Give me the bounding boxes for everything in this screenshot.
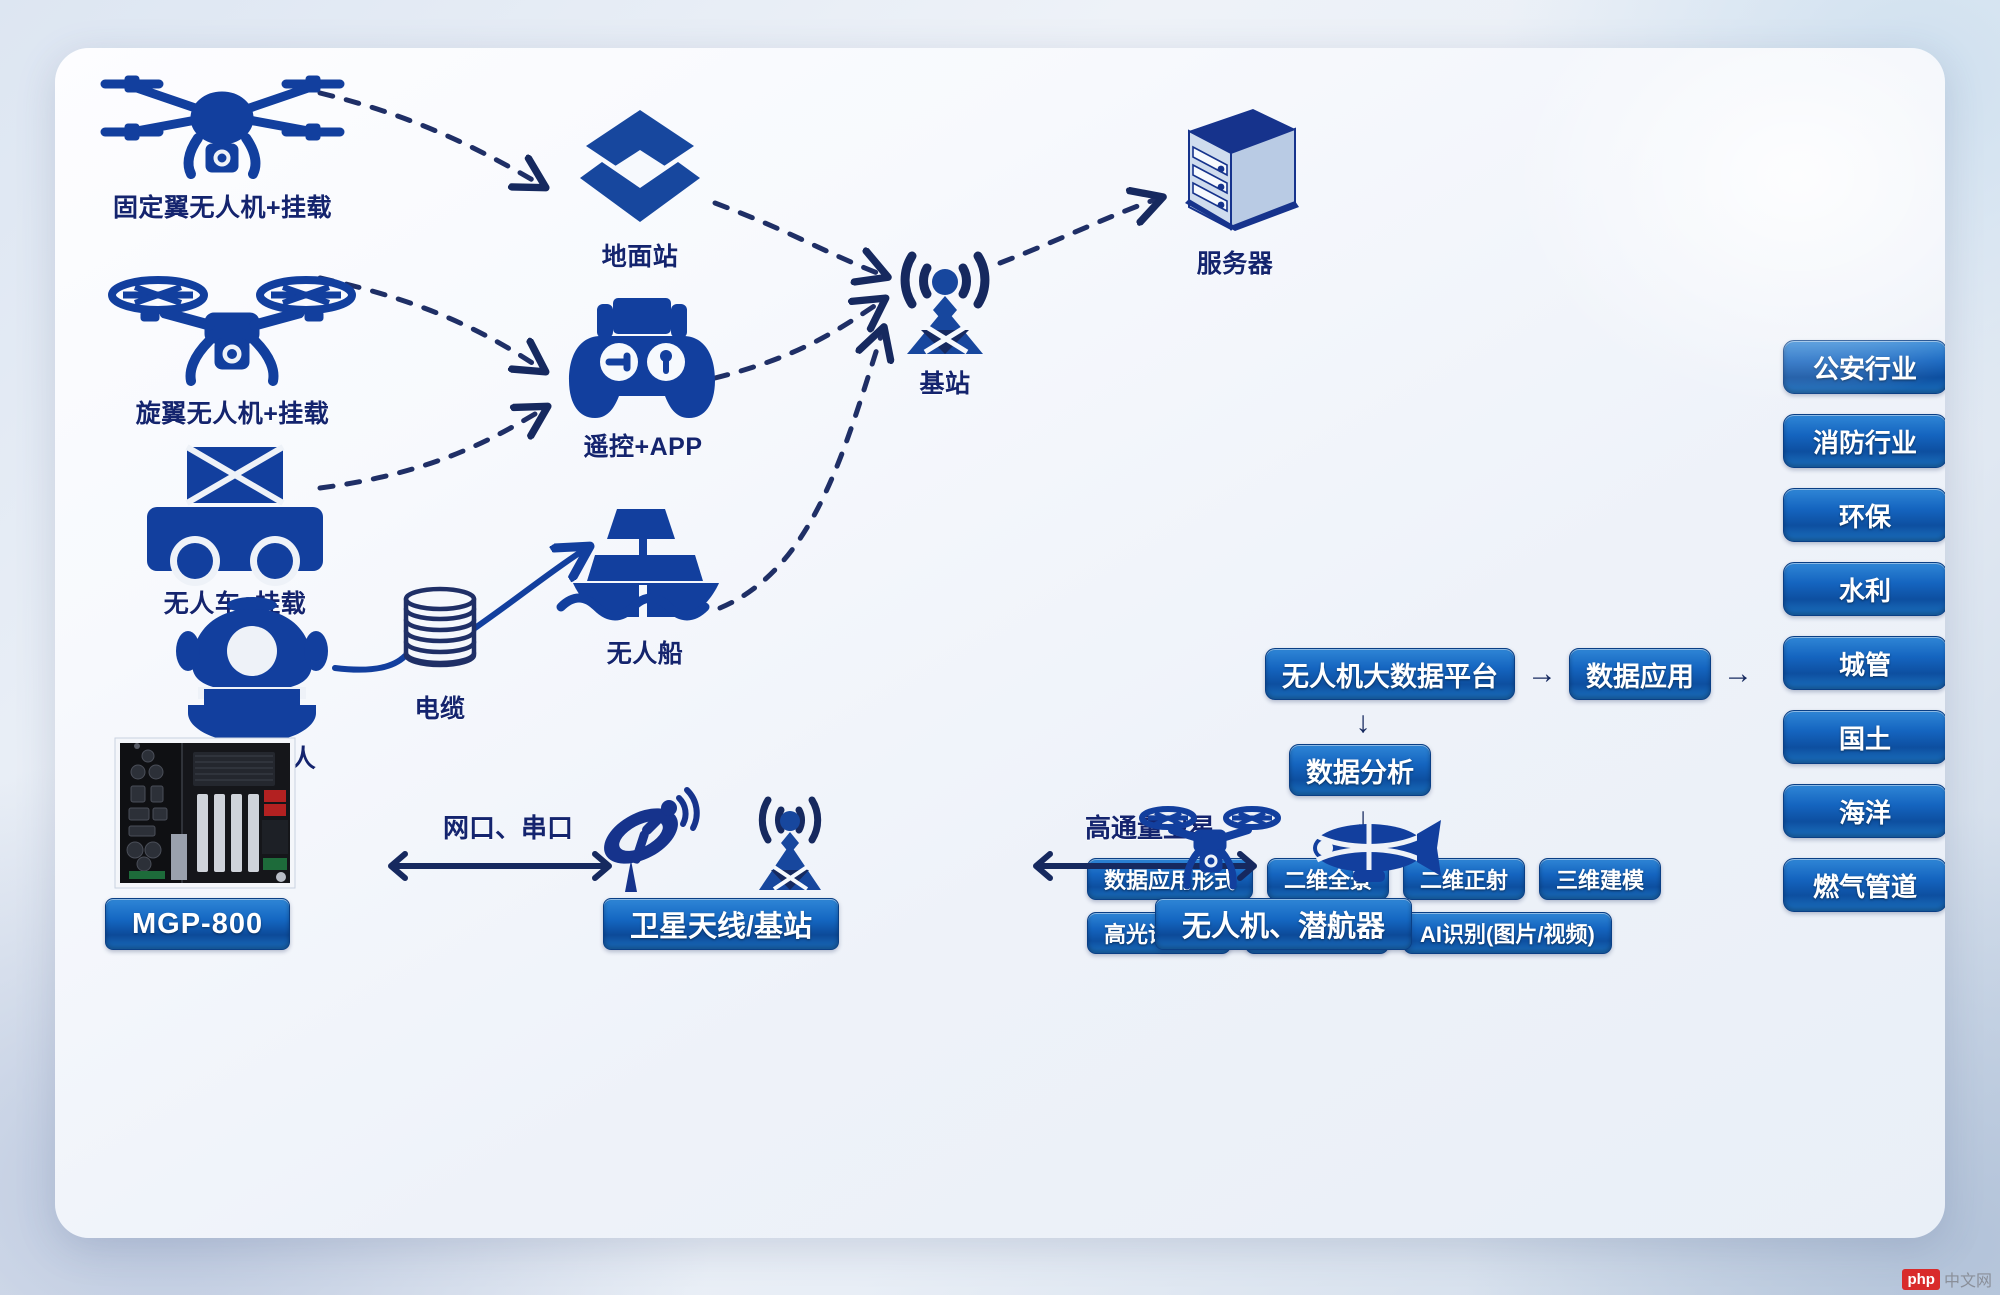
arrow-down-icon-1: ↓ [1265, 708, 1461, 738]
industry-tag[interactable]: 消防行业 [1783, 414, 1945, 468]
data-analysis-pill[interactable]: 数据分析 [1289, 744, 1431, 796]
unmanned-ground-vehicle-icon [135, 443, 335, 578]
server-node[interactable]: 服务器 [1145, 103, 1325, 280]
base-station-node[interactable]: 基站 [855, 238, 1035, 400]
arrow-right-icon-2: → [1723, 657, 1753, 691]
bottom-airship-node[interactable] [1305, 808, 1445, 898]
middle-label-usv: 无人船 [555, 634, 735, 670]
big-data-platform-pill[interactable]: 无人机大数据平台 [1265, 648, 1515, 700]
app-form-chip[interactable]: 三维建模 [1539, 858, 1661, 900]
satellite-dish-icon [595, 788, 705, 898]
watermark: php 中文网 [1902, 1267, 1992, 1291]
source-label-rotor: 旋翼无人机+挂载 [105, 394, 360, 430]
radio-tower-icon [735, 790, 845, 900]
source-label-fixed-wing: 固定翼无人机+挂载 [95, 188, 350, 224]
cable-node[interactable]: 电缆 [385, 583, 495, 725]
middle-node-remote-app[interactable]: 遥控+APP [553, 296, 733, 463]
industry-tag[interactable]: 燃气管道 [1783, 858, 1945, 912]
cable-label: 电缆 [385, 689, 495, 725]
ground-station-icon [550, 106, 730, 231]
arrow-right-icon-1: → [1527, 657, 1557, 691]
industry-list: 公安行业 消防行业 环保 水利 城管 国土 海洋 燃气管道 [1783, 340, 1945, 932]
quadcopter-drone-icon [105, 273, 360, 388]
device-label[interactable]: MGP-800 [105, 898, 290, 950]
industry-tag[interactable]: 城管 [1783, 636, 1945, 690]
middle-node-ground-station[interactable]: 地面站 [550, 106, 730, 273]
coiled-cable-icon [385, 583, 495, 683]
ship-icon [555, 503, 735, 628]
satellite-label-wrap: 卫星天线/基站 [603, 898, 839, 950]
satellite-label[interactable]: 卫星天线/基站 [603, 898, 839, 950]
data-application-pill[interactable]: 数据应用 [1569, 648, 1711, 700]
quadcopter-drone-icon [1140, 800, 1280, 895]
watermark-tag: php [1902, 1269, 1940, 1290]
remote-controller-icon [553, 296, 733, 421]
app-form-chip[interactable]: AI识别(图片/视频) [1403, 912, 1612, 954]
link-label-left: 网口、串口 [443, 808, 573, 845]
industry-tag[interactable]: 海洋 [1783, 784, 1945, 838]
device-label-wrap: MGP-800 [105, 898, 290, 950]
air-label[interactable]: 无人机、潜航器 [1155, 898, 1412, 950]
platform-row-top: 无人机大数据平台 → 数据应用 → [1265, 648, 1765, 700]
source-node-fixed-wing[interactable]: 固定翼无人机+挂载 [95, 62, 350, 224]
air-label-wrap: 无人机、潜航器 [1155, 898, 1412, 950]
middle-label-ground-station: 地面站 [550, 237, 730, 273]
diagram-card: 固定翼无人机+挂载 旋翼无人机+挂载 [55, 48, 1945, 1238]
base-station-label: 基站 [855, 364, 1035, 400]
industry-tag[interactable]: 国土 [1783, 710, 1945, 764]
server-label: 服务器 [1145, 244, 1325, 280]
airship-submersible-icon [1305, 808, 1445, 898]
bottom-drone-node[interactable] [1140, 800, 1280, 895]
industry-tag[interactable]: 水利 [1783, 562, 1945, 616]
diving-helmet-icon [160, 593, 345, 733]
industrial-computer-icon [115, 738, 295, 888]
server-rack-icon [1145, 103, 1325, 238]
middle-label-remote-app: 遥控+APP [553, 427, 733, 463]
platform-flow: 无人机大数据平台 → 数据应用 → ↓ 数据分析 ↓ [1265, 648, 1765, 834]
industry-tag[interactable]: 公安行业 [1783, 340, 1945, 394]
hexacopter-drone-icon [95, 62, 350, 182]
industrial-computer-node[interactable] [115, 738, 295, 888]
radio-tower-icon [855, 238, 1035, 358]
satellite-antenna-node[interactable] [595, 788, 705, 898]
watermark-text: 中文网 [1944, 1267, 1992, 1291]
double-arrow-left [375, 848, 625, 884]
middle-node-usv[interactable]: 无人船 [555, 503, 735, 670]
source-node-rotor[interactable]: 旋翼无人机+挂载 [105, 273, 360, 430]
platform-row-analysis: 数据分析 [1265, 744, 1765, 796]
satellite-tower-node[interactable] [735, 790, 845, 900]
industry-tag[interactable]: 环保 [1783, 488, 1945, 542]
